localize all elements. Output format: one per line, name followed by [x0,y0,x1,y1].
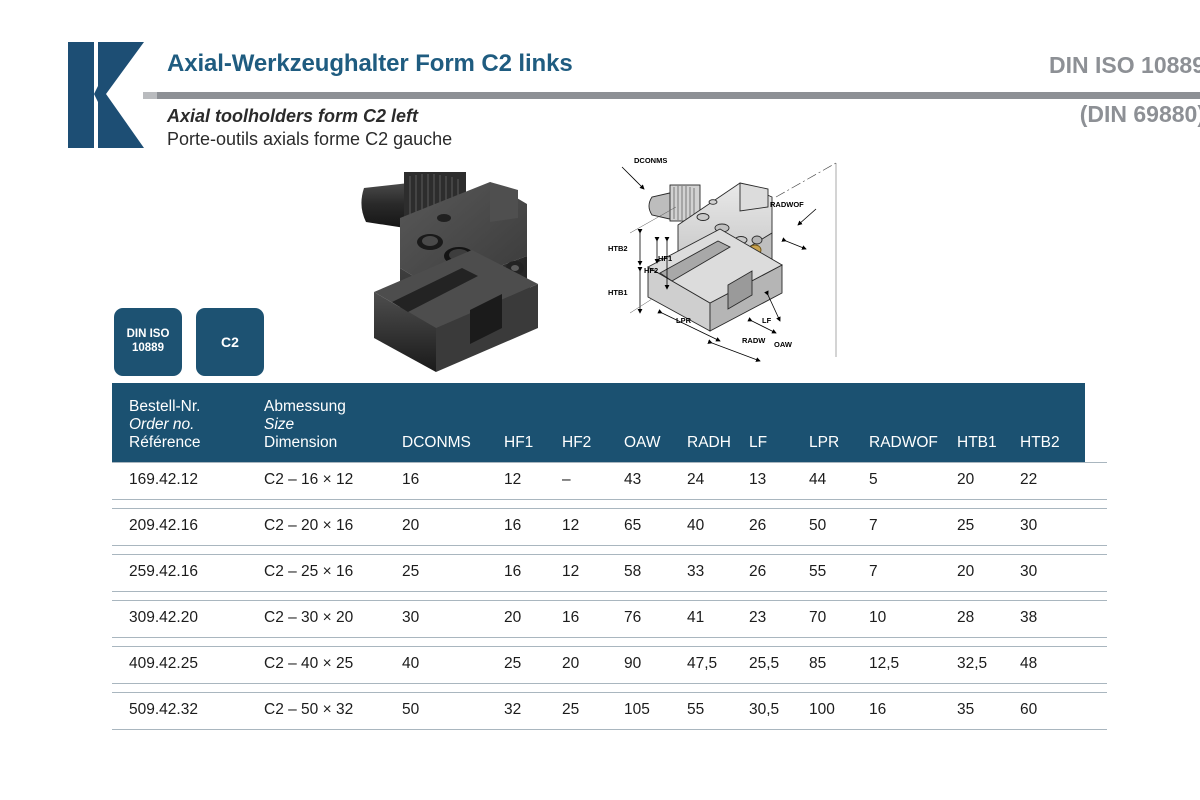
cell-oaw: 76 [624,609,641,627]
cell-radh: 55 [687,701,704,719]
header-order-no-en: Order no. [129,416,194,434]
header-size-de: Abmessung [264,398,346,416]
cell-htb1: 20 [957,563,974,581]
table-row: 209.42.16 C2 – 20 × 16 20 16 12 65 40 26… [112,509,1107,545]
cell-oaw: 65 [624,517,641,535]
din-iso-badge: DIN ISO 10889 [114,308,182,376]
cell-size: C2 – 50 × 32 [264,701,353,719]
header-col-htb1: HTB1 [957,434,997,452]
header-col-lpr: LPR [809,434,839,452]
cell-order-no: 259.42.16 [129,563,198,581]
cell-radwof: 12,5 [869,655,899,673]
technical-dimension-drawing: DCONMS RADWOF HTB2 HF1 HF2 HTB1 LPR LF R… [600,145,862,377]
form-badge-label: C2 [221,334,239,351]
header-order-no-de: Bestell-Nr. [129,398,201,416]
drawing-label-radwof: RADWOF [770,200,804,209]
cell-lf: 26 [749,563,766,581]
drawing-label-dconms: DCONMS [634,156,667,165]
cell-htb1: 20 [957,471,974,489]
header-col-htb2: HTB2 [1020,434,1060,452]
cell-hf1: 25 [504,655,521,673]
drawing-label-htb1: HTB1 [608,288,628,297]
din-iso-badge-line1: DIN ISO [127,328,170,340]
cell-order-no: 209.42.16 [129,517,198,535]
cell-dconms: 20 [402,517,419,535]
cell-hf2: 25 [562,701,579,719]
drawing-label-lf: LF [762,316,772,325]
cell-htb1: 35 [957,701,974,719]
cell-radh: 40 [687,517,704,535]
cell-dconms: 16 [402,471,419,489]
cell-radh: 33 [687,563,704,581]
cell-dconms: 25 [402,563,419,581]
cell-hf1: 12 [504,471,521,489]
table-row: 509.42.32 C2 – 50 × 32 50 32 25 105 55 3… [112,693,1107,729]
cell-order-no: 509.42.32 [129,701,198,719]
cell-lpr: 85 [809,655,826,673]
standard-secondary-label: (DIN 69880) [760,101,1200,128]
cell-lf: 25,5 [749,655,779,673]
table-row: 309.42.20 C2 – 30 × 20 30 20 16 76 41 23… [112,601,1107,637]
cell-radh: 24 [687,471,704,489]
page-title-de: Axial-Werkzeughalter Form C2 links [167,50,573,78]
cell-dconms: 40 [402,655,419,673]
header-size-en: Size [264,416,294,434]
cell-hf1: 16 [504,563,521,581]
cell-size: C2 – 40 × 25 [264,655,353,673]
header-col-hf1: HF1 [504,434,533,452]
cell-hf2: 16 [562,609,579,627]
cell-htb2: 22 [1020,471,1037,489]
cell-radwof: 5 [869,471,878,489]
cell-radh: 47,5 [687,655,717,673]
row-separator [112,729,1107,730]
cell-lpr: 50 [809,517,826,535]
header-col-oaw: OAW [624,434,660,452]
header-divider-rule [143,92,1200,99]
cell-htb1: 28 [957,609,974,627]
cell-hf1: 32 [504,701,521,719]
cell-dconms: 30 [402,609,419,627]
header-divider-cap [143,92,157,99]
specification-table: Bestell-Nr. Order no. Référence Abmessun… [112,383,1112,730]
form-badge: C2 [196,308,264,376]
header-col-radh: RADH [687,434,731,452]
cell-hf2: 12 [562,517,579,535]
cell-hf2: – [562,471,571,489]
cell-radwof: 16 [869,701,886,719]
drawing-label-htb2: HTB2 [608,244,628,253]
standard-primary-label: DIN ISO 10889 [760,52,1200,79]
cell-lpr: 70 [809,609,826,627]
drawing-label-radw: RADW [742,336,766,345]
cell-hf1: 16 [504,517,521,535]
drawing-label-oaw: OAW [774,340,793,349]
table-row: 169.42.12 C2 – 16 × 12 16 12 – 43 24 13 … [112,463,1107,499]
cell-hf1: 20 [504,609,521,627]
cell-radwof: 7 [869,517,878,535]
cell-order-no: 309.42.20 [129,609,198,627]
cell-size: C2 – 16 × 12 [264,471,353,489]
cell-htb2: 60 [1020,701,1037,719]
cell-dconms: 50 [402,701,419,719]
table-row: 259.42.16 C2 – 25 × 16 25 16 12 58 33 26… [112,555,1107,591]
page-title-en: Axial toolholders form C2 left [167,106,418,127]
cell-oaw: 58 [624,563,641,581]
cell-htb1: 32,5 [957,655,987,673]
din-iso-badge-line2: 10889 [132,342,164,354]
header-col-radwof: RADWOF [869,434,938,452]
drawing-label-hf1: HF1 [658,254,672,263]
table-row: 409.42.25 C2 – 40 × 25 40 25 20 90 47,5 … [112,647,1107,683]
header-size-fr: Dimension [264,434,337,452]
cell-size: C2 – 20 × 16 [264,517,353,535]
page-header: Axial-Werkzeughalter Form C2 links Axial… [0,0,1200,150]
cell-hf2: 20 [562,655,579,673]
header-col-dconms: DCONMS [402,434,471,452]
cell-radwof: 10 [869,609,886,627]
cell-size: C2 – 25 × 16 [264,563,353,581]
page-title-fr: Porte-outils axials forme C2 gauche [167,129,452,150]
drawing-label-hf2: HF2 [644,266,658,275]
cell-lpr: 100 [809,701,835,719]
header-order-no-fr: Référence [129,434,201,452]
cell-oaw: 90 [624,655,641,673]
cell-oaw: 105 [624,701,650,719]
header-col-hf2: HF2 [562,434,591,452]
cell-oaw: 43 [624,471,641,489]
cell-size: C2 – 30 × 20 [264,609,353,627]
company-logo-icon [68,42,144,148]
header-col-lf: LF [749,434,767,452]
cell-hf2: 12 [562,563,579,581]
table-header-row: Bestell-Nr. Order no. Référence Abmessun… [112,383,1085,462]
cell-radwof: 7 [869,563,878,581]
cell-radh: 41 [687,609,704,627]
cell-lf: 26 [749,517,766,535]
cell-htb2: 48 [1020,655,1037,673]
cell-lpr: 44 [809,471,826,489]
cell-htb2: 38 [1020,609,1037,627]
cell-lpr: 55 [809,563,826,581]
cell-lf: 13 [749,471,766,489]
cell-htb1: 25 [957,517,974,535]
cell-htb2: 30 [1020,517,1037,535]
cell-order-no: 409.42.25 [129,655,198,673]
cell-lf: 23 [749,609,766,627]
drawing-label-lpr: LPR [676,316,692,325]
product-photo [352,160,580,380]
cell-htb2: 30 [1020,563,1037,581]
cell-lf: 30,5 [749,701,779,719]
cell-order-no: 169.42.12 [129,471,198,489]
